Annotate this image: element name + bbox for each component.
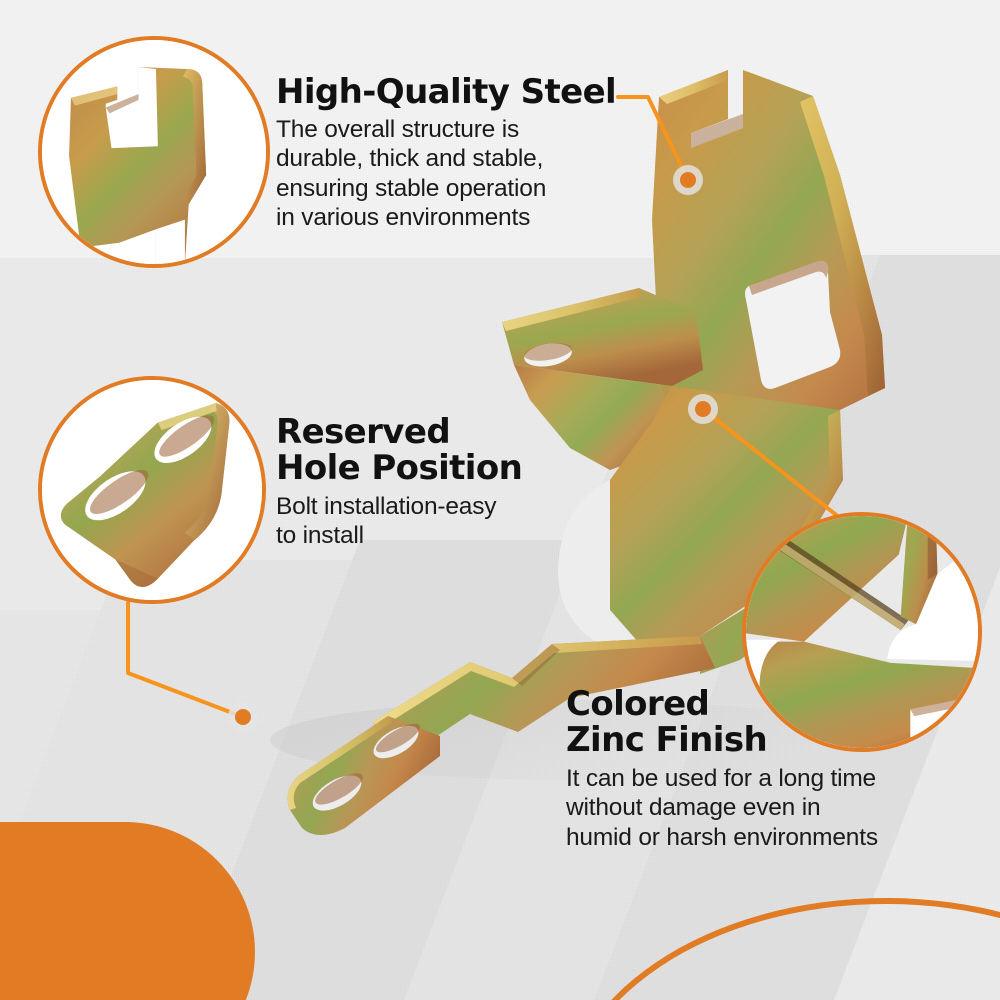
- marker-dot-reserved-hole-position: [228, 702, 258, 732]
- inset-image-steel-plate: [42, 40, 266, 264]
- callout-title-colored-zinc-finish: Colored Zinc Finish: [566, 686, 966, 758]
- inset-image-oval-bolt-holes: [42, 380, 262, 600]
- marker-core: [695, 401, 711, 417]
- callout-body-high-quality-steel: The overall structure is durable, thick …: [276, 115, 626, 233]
- callout-high-quality-steel: High-Quality Steel The overall structure…: [276, 74, 626, 233]
- marker-dot-high-quality-steel: [673, 165, 703, 195]
- callout-body-colored-zinc-finish: It can be used for a long time without d…: [566, 764, 966, 852]
- infographic-canvas: High-Quality Steel The overall structure…: [0, 0, 1000, 1000]
- marker-dot-colored-zinc-finish: [688, 394, 718, 424]
- marker-core: [680, 172, 696, 188]
- detail-inset-reserved-hole-position: [38, 376, 266, 604]
- callout-title-reserved-hole-position: Reserved Hole Position: [276, 414, 576, 486]
- marker-core: [235, 709, 251, 725]
- callout-reserved-hole-position: Reserved Hole Position Bolt installation…: [276, 414, 576, 551]
- callout-colored-zinc-finish: Colored Zinc Finish It can be used for a…: [566, 686, 966, 852]
- callout-body-reserved-hole-position: Bolt installation-easy to install: [276, 492, 576, 551]
- detail-inset-high-quality-steel: [38, 36, 270, 268]
- callout-title-high-quality-steel: High-Quality Steel: [276, 74, 626, 110]
